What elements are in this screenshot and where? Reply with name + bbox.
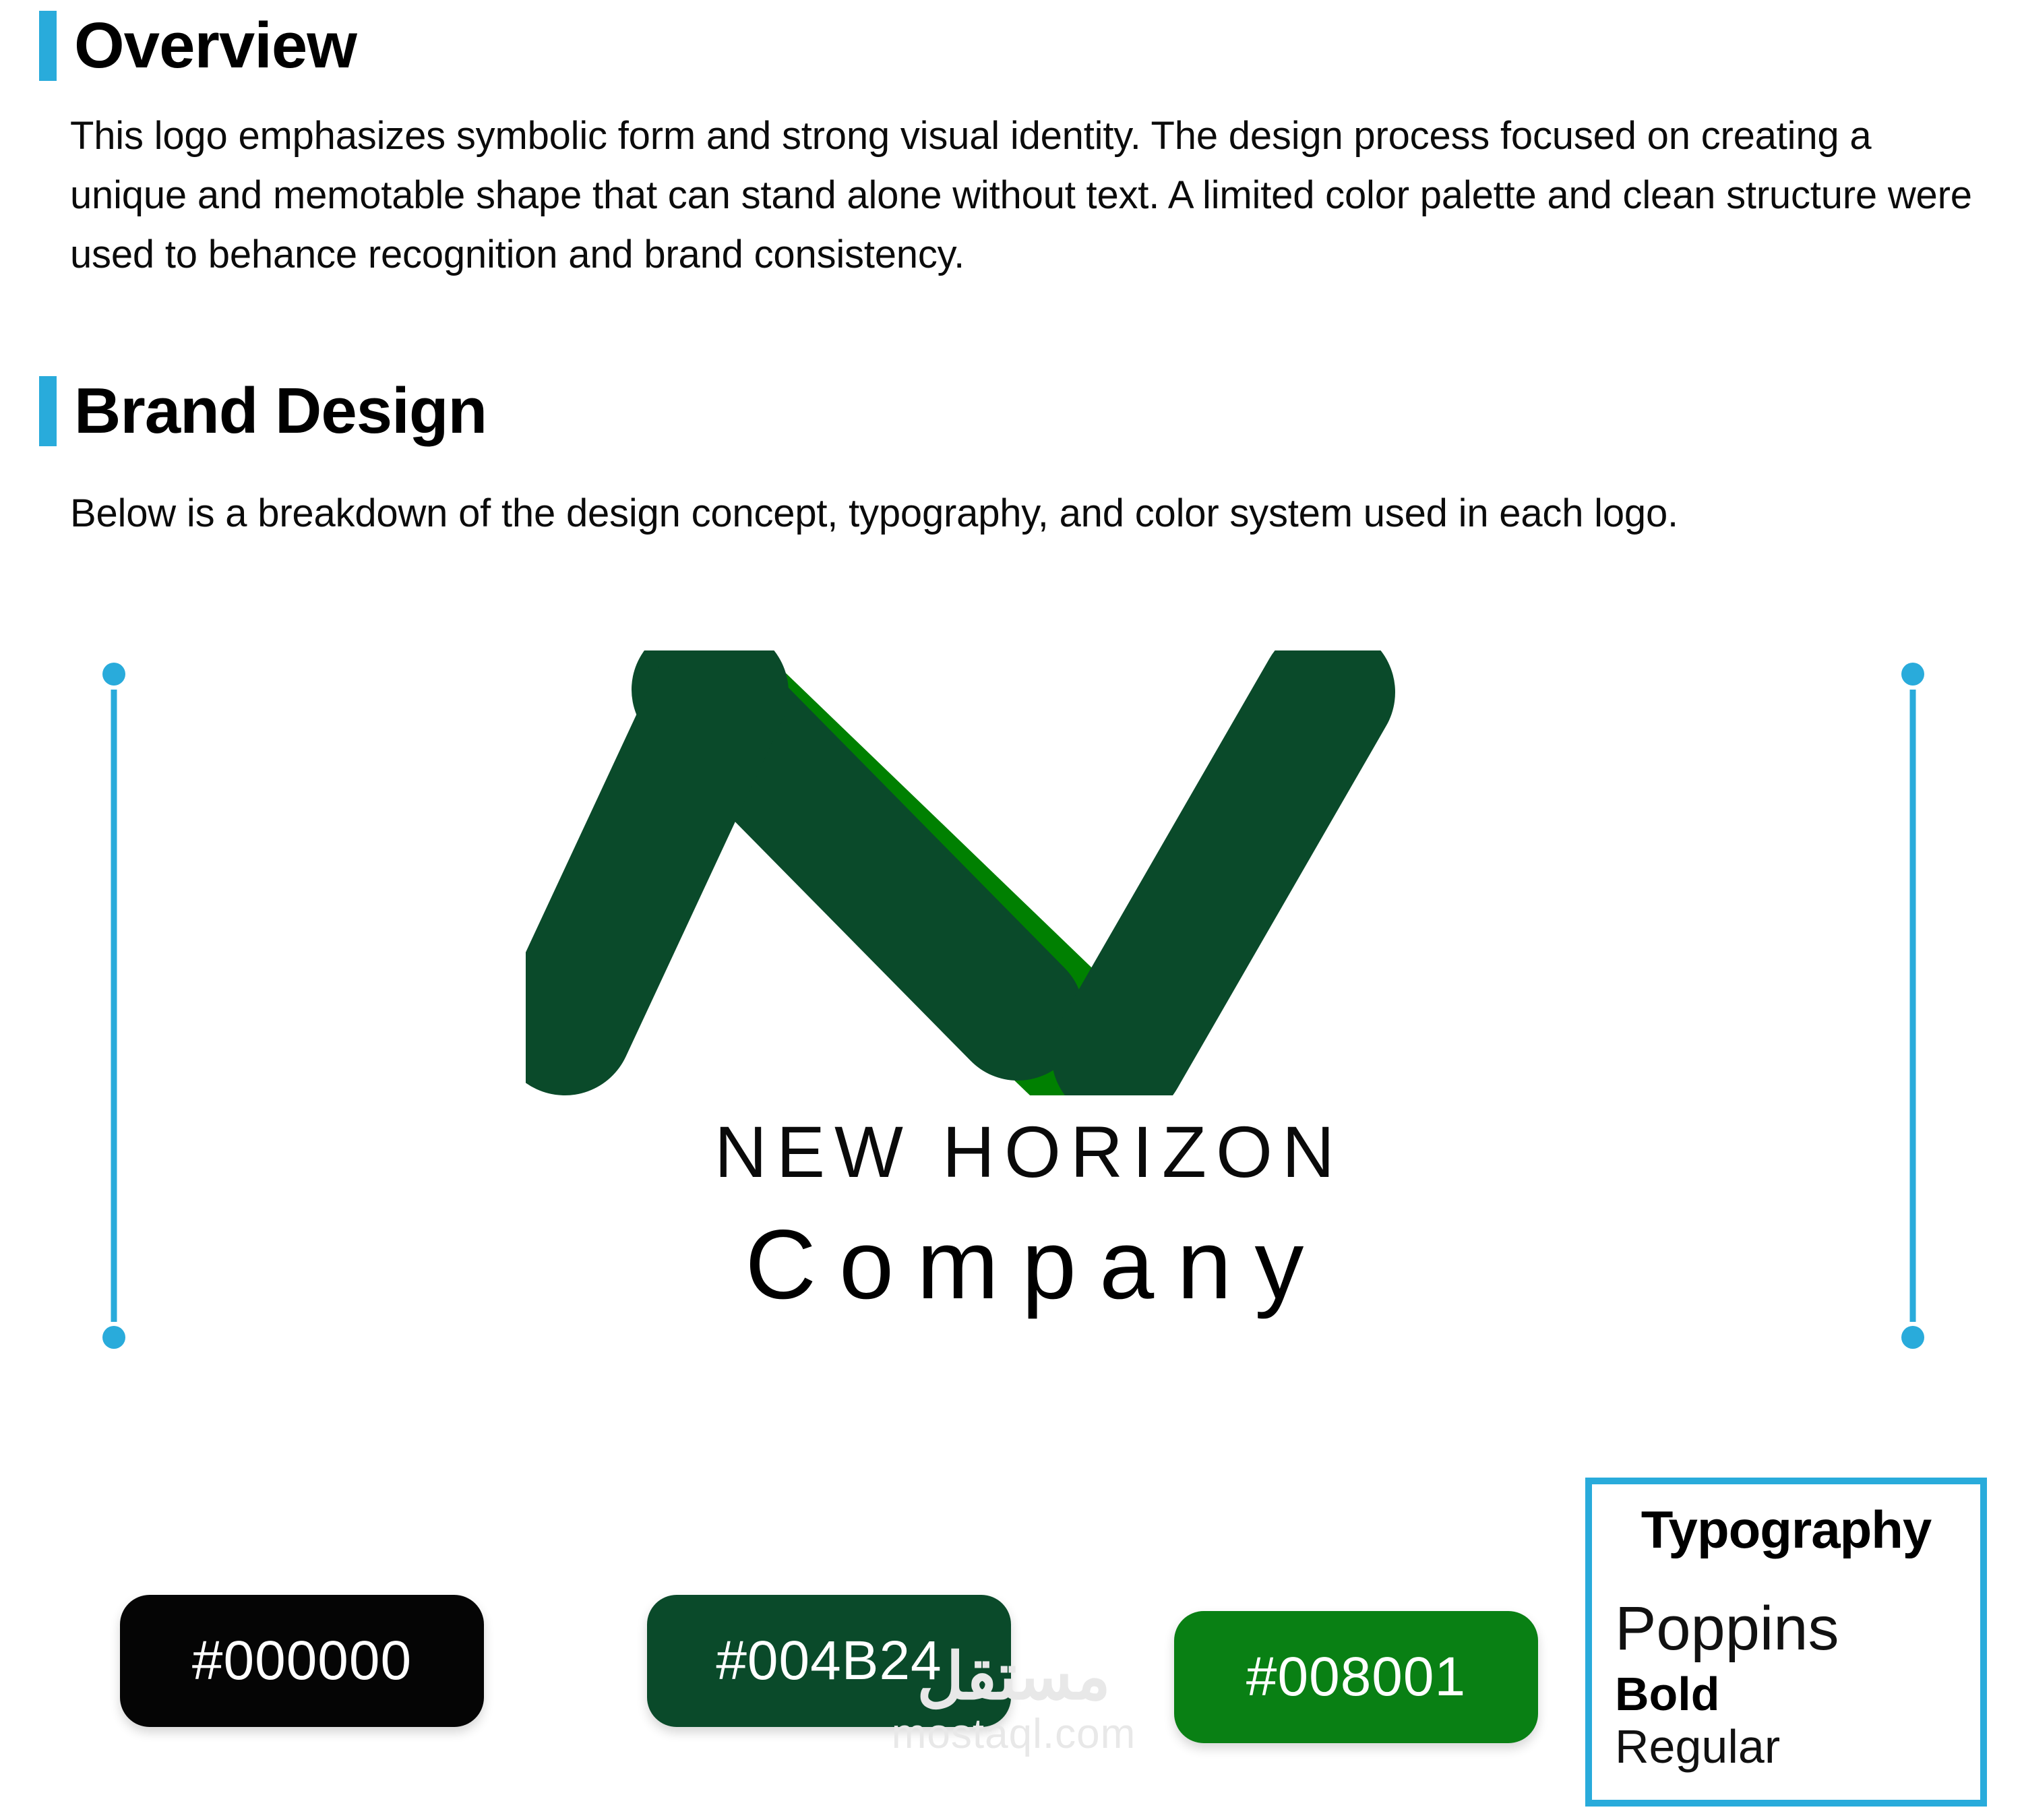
color-swatch-hex-label: #008001 <box>1246 1645 1466 1709</box>
overview-section-heading: Overview <box>39 11 357 81</box>
color-swatch[interactable]: #008001 <box>1174 1611 1538 1743</box>
logo-wordmark-secondary: Company <box>526 1215 1523 1314</box>
typography-card-title: Typography <box>1592 1503 1980 1556</box>
section-title-brand-design: Brand Design <box>74 379 487 444</box>
typography-weight-bold: Bold <box>1615 1670 1720 1718</box>
logo-wordmark-primary: NEW HORIZON <box>526 1116 1523 1188</box>
brand-design-section-heading: Brand Design <box>39 376 487 446</box>
accent-bar-icon <box>39 376 57 446</box>
typography-weight-regular: Regular <box>1615 1723 1780 1770</box>
typography-family-name: Poppins <box>1615 1598 1839 1660</box>
color-swatch[interactable]: #000000 <box>120 1595 484 1727</box>
color-swatch-hex-label: #000000 <box>192 1629 412 1693</box>
typography-card: Typography Poppins Bold Regular <box>1585 1478 1987 1807</box>
color-swatch-hex-label: #004B24 <box>716 1629 942 1693</box>
guide-dot-icon <box>1901 1326 1924 1349</box>
brand-design-paragraph: Below is a breakdown of the design conce… <box>70 484 1984 543</box>
overview-paragraph: This logo emphasizes symbolic form and s… <box>70 107 1984 284</box>
guide-line-icon <box>111 690 117 1322</box>
logo-lockup: NEW HORIZON Company <box>526 650 1523 1399</box>
guide-line-icon <box>1910 690 1916 1322</box>
guide-dot-icon <box>102 663 125 686</box>
guide-dot-icon <box>1901 663 1924 686</box>
right-measure-guide <box>1899 663 1926 1349</box>
new-horizon-logo-mark-icon <box>526 650 1523 1095</box>
accent-bar-icon <box>39 11 57 81</box>
left-measure-guide <box>100 663 127 1349</box>
guide-dot-icon <box>102 1326 125 1349</box>
page-title: Overview <box>74 13 357 78</box>
color-swatch[interactable]: #004B24 <box>647 1595 1011 1727</box>
